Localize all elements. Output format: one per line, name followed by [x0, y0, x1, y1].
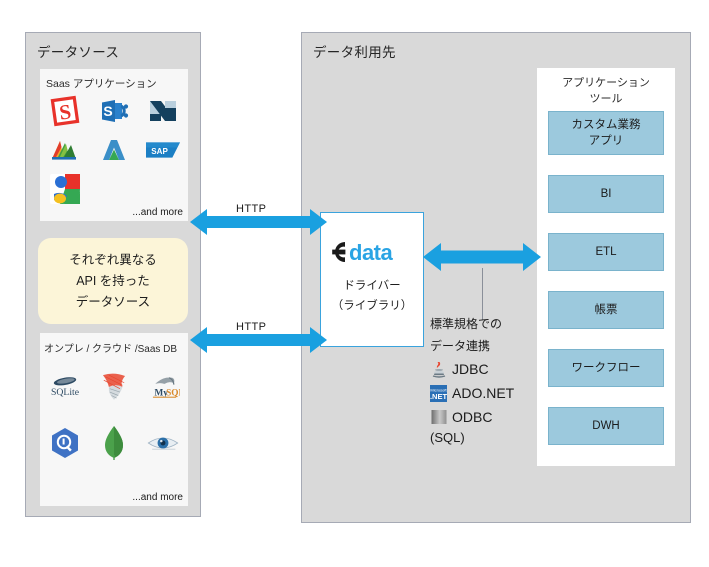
tool-chip-report[interactable]: 帳票	[548, 291, 664, 329]
application-tools-box: アプリケーション ツール カスタム業務 アプリ BI ETL 帳票 ワークフロー…	[537, 68, 675, 466]
tool-chip-dwh[interactable]: DWH	[548, 407, 664, 445]
svg-text:SAP: SAP	[152, 147, 169, 156]
salesforce-icon: S	[48, 94, 82, 128]
tool-chip-workflow[interactable]: ワークフロー	[548, 349, 664, 387]
callout-line-2: API を持った	[76, 271, 150, 292]
callout-line-1: それぞれ異なる	[69, 250, 157, 271]
database-box-caption: オンプレ / クラウド /Saas DB	[44, 340, 177, 355]
standard-row-odbc: ODBC	[430, 405, 550, 429]
google-ads-icon	[97, 133, 131, 167]
database-icon-grid: SQLite My SQL	[40, 361, 188, 469]
oracle-icon	[146, 426, 180, 460]
saas-box-caption: Saas アプリケーション	[46, 76, 157, 91]
sql-server-icon	[97, 370, 131, 404]
standard-label-odbc: ODBC	[452, 409, 492, 425]
standard-row-adonet: Microsoft .NET ADO.NET	[430, 381, 550, 405]
saas-applications-box: Saas アプリケーション S S	[40, 69, 188, 221]
svg-text:.NET: .NET	[430, 392, 447, 401]
google-apps-icon	[48, 172, 82, 206]
dynamics-icon	[48, 133, 82, 167]
svg-text:SQLite: SQLite	[51, 387, 79, 398]
sharepoint-icon: S	[97, 94, 131, 128]
tool-chip-etl[interactable]: ETL	[548, 233, 664, 271]
standard-label-adonet: ADO.NET	[452, 385, 514, 401]
sap-icon: SAP	[146, 133, 180, 167]
cdata-driver-label-line-2: （ライブラリ）	[332, 296, 413, 316]
standard-row-jdbc: JDBC	[430, 357, 550, 381]
standards-lead-line-1: 標準規格での	[430, 313, 550, 335]
sqlite-icon: SQLite	[48, 370, 82, 404]
tool-chip-custom-app-line-2: アプリ	[572, 133, 641, 149]
data-destination-panel-title: データ利用先	[313, 41, 396, 61]
application-tools-caption-line-1: アプリケーション	[537, 75, 675, 91]
tool-chip-custom-app[interactable]: カスタム業務 アプリ	[548, 111, 664, 155]
http-label-bottom: HTTP	[236, 321, 266, 333]
diagram-canvas: データソース Saas アプリケーション S S	[0, 0, 709, 567]
netsuite-icon	[146, 94, 180, 128]
http-label-top: HTTP	[236, 203, 266, 215]
application-tools-caption: アプリケーション ツール	[537, 75, 675, 107]
standards-list: 標準規格での データ連携 JDBC Microsoft .NET	[430, 313, 550, 445]
standards-lead-line-2: データ連携	[430, 335, 550, 357]
java-jdbc-icon	[430, 361, 447, 378]
tool-chip-bi[interactable]: BI	[548, 175, 664, 213]
cdata-driver-label-line-1: ドライバー	[332, 276, 413, 296]
database-and-more-label: ...and more	[132, 492, 183, 503]
bigquery-icon	[48, 426, 82, 460]
cdata-driver-box: data ドライバー （ライブラリ）	[320, 212, 424, 347]
tool-chip-custom-app-line-1: カスタム業務	[572, 117, 641, 133]
odbc-icon	[430, 409, 447, 426]
callout-line-3: データソース	[76, 292, 150, 313]
application-tool-list: カスタム業務 アプリ BI ETL 帳票 ワークフロー DWH	[548, 111, 664, 465]
saas-icon-grid: S S	[40, 91, 188, 209]
mongodb-icon	[97, 426, 131, 460]
svg-text:S: S	[103, 103, 112, 119]
cdata-logo: data	[329, 239, 415, 265]
standard-label-jdbc: JDBC	[452, 361, 489, 377]
cdata-driver-label: ドライバー （ライブラリ）	[332, 276, 413, 316]
dotnet-icon: Microsoft .NET	[430, 385, 447, 402]
api-difference-callout: それぞれ異なる API を持った データソース	[38, 238, 188, 324]
application-tools-caption-line-2: ツール	[537, 91, 675, 107]
database-sources-box: オンプレ / クラウド /Saas DB SQLite	[40, 333, 188, 506]
data-source-panel-title: データソース	[37, 41, 119, 61]
standard-sql-note: (SQL)	[430, 430, 550, 445]
saas-and-more-label: ...and more	[132, 207, 183, 218]
svg-text:data: data	[349, 240, 394, 265]
mysql-icon: My SQL	[146, 370, 180, 404]
